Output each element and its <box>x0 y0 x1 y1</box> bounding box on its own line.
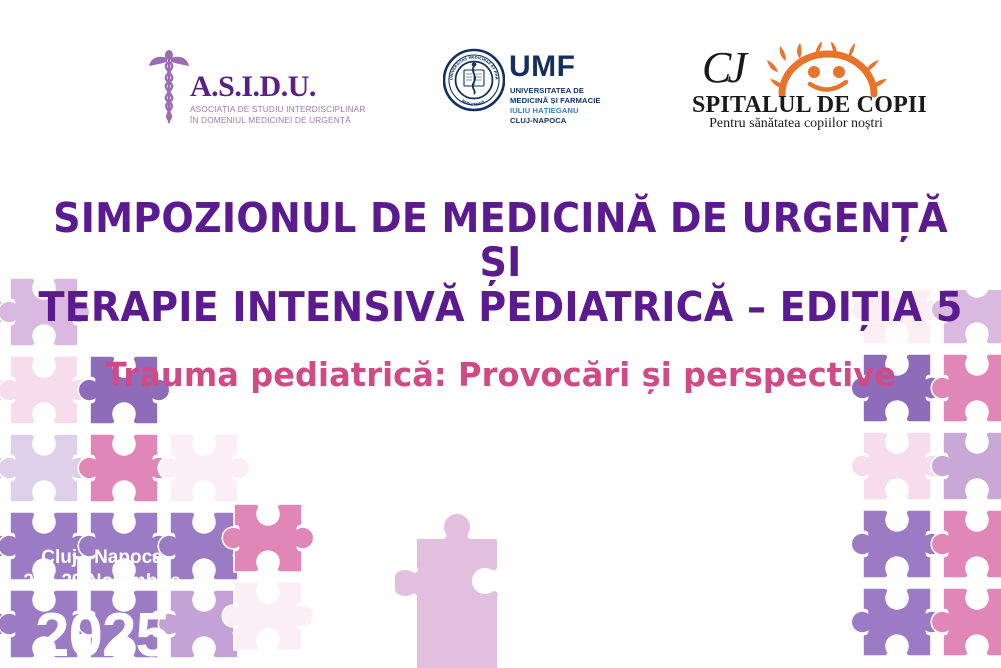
event-year: 2025 <box>12 605 192 667</box>
puzzle-decoration-right <box>805 290 1001 668</box>
page-title: SIMPOZIONUL DE MEDICINĂ DE URGENȚĂ ȘI TE… <box>35 196 966 329</box>
caduceus-icon <box>148 44 190 128</box>
puzzle-decoration-center <box>395 505 525 668</box>
umf-subtitle-line2: MEDICINĂ ȘI FARMACIE <box>510 96 601 105</box>
asidu-wordmark: A.S.I.D.U. <box>190 70 316 104</box>
event-info-block: Cluj - Napoca 27 - 29 Noiembrie 2025 <box>12 546 262 667</box>
conference-poster: A.S.I.D.U. ASOCIAȚIA DE STUDIU INTERDISC… <box>0 0 1001 668</box>
logo-spitalul-de-copii: CJ SPITALUL DE COPII <box>692 38 900 134</box>
asidu-subtitle-line2: ÎN DOMENIUL MEDICINEI DE URGENȚĂ <box>190 115 351 125</box>
cj-tagline: Pentru sănătatea copiilor noștri <box>692 116 900 132</box>
university-seal-icon: UNIVERSITAS MEDICINAE ET PHARMACIAE NAPO… <box>443 46 505 114</box>
cj-monogram: CJ <box>702 46 743 90</box>
sun-smile-icon <box>766 42 890 98</box>
asidu-subtitle-line1: ASOCIAȚIA DE STUDIU INTERDISCIPLINAR <box>190 104 366 114</box>
umf-subtitle-line1: UNIVERSITATEA DE <box>510 86 584 95</box>
sponsor-logo-row: A.S.I.D.U. ASOCIAȚIA DE STUDIU INTERDISC… <box>0 38 1001 138</box>
logo-asidu: A.S.I.D.U. ASOCIAȚIA DE STUDIU INTERDISC… <box>148 44 353 128</box>
logo-umf: UNIVERSITAS MEDICINAE ET PHARMACIAE NAPO… <box>443 46 593 128</box>
page-subtitle: Trauma pediatrică: Provocări și perspect… <box>15 355 986 394</box>
umf-subtitle-line3: IULIU HAȚIEGANU <box>510 106 579 115</box>
event-dates: 27 - 29 Noiembrie <box>12 570 192 594</box>
umf-subtitle-line4: CLUJ-NAPOCA <box>510 116 566 125</box>
umf-wordmark: UMF <box>509 52 575 82</box>
cj-title: SPITALUL DE COPII <box>692 92 900 119</box>
event-location: Cluj - Napoca <box>12 546 192 570</box>
